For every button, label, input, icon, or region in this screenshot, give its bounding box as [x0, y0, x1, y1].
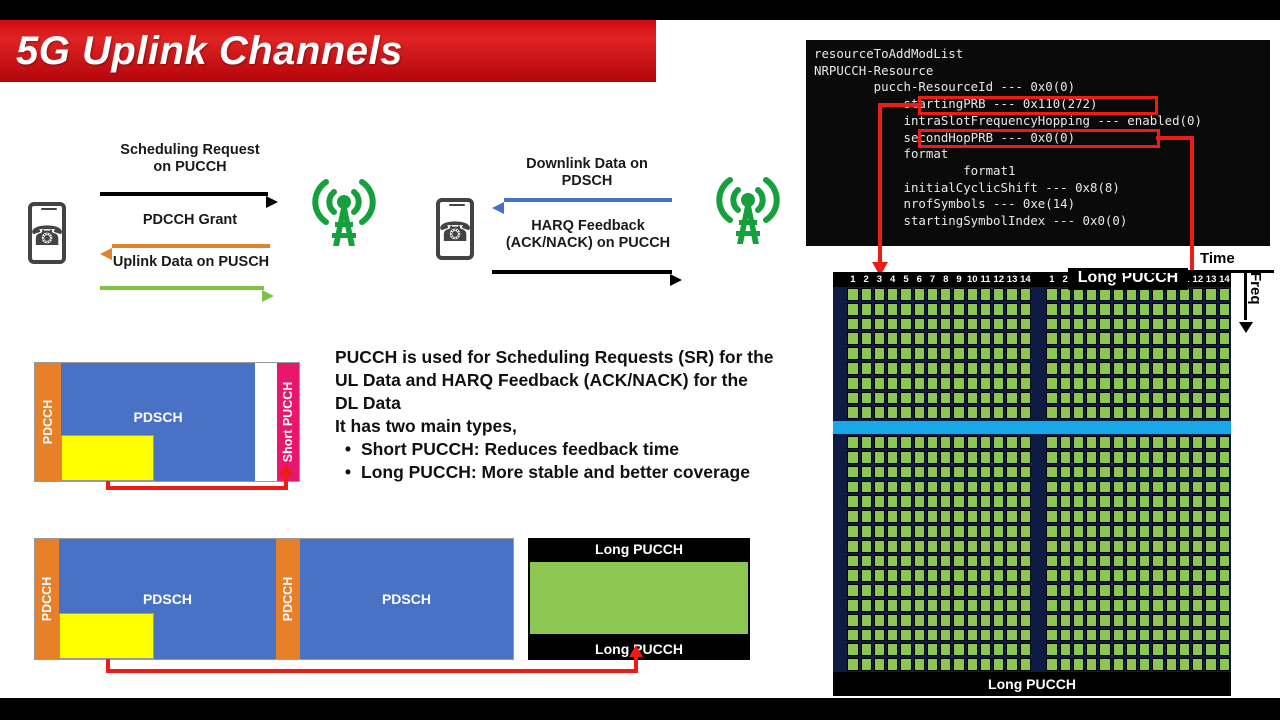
resource-element	[1006, 332, 1017, 345]
resource-element	[1139, 540, 1150, 553]
resource-element	[887, 318, 898, 331]
resource-element	[887, 614, 898, 627]
segment-label: PDSCH	[61, 409, 256, 425]
resource-element	[940, 525, 951, 538]
resource-element	[1020, 643, 1031, 656]
resource-element	[861, 406, 872, 419]
resource-element	[1179, 466, 1190, 479]
resource-element	[1073, 318, 1084, 331]
resource-element	[900, 451, 911, 464]
resource-element	[914, 392, 925, 405]
resource-element	[1205, 525, 1216, 538]
resource-element	[1099, 392, 1110, 405]
resource-element	[847, 392, 858, 405]
resource-element	[887, 362, 898, 375]
resource-element	[1073, 525, 1084, 538]
resource-element	[993, 332, 1004, 345]
resource-element	[861, 614, 872, 627]
resource-element	[1086, 451, 1097, 464]
resource-element	[1046, 288, 1057, 301]
resource-element	[900, 347, 911, 360]
resource-element	[887, 658, 898, 671]
resource-element	[927, 555, 938, 568]
resource-element	[1060, 481, 1071, 494]
resource-element	[1139, 436, 1150, 449]
resource-element	[914, 510, 925, 523]
resource-element	[1006, 362, 1017, 375]
resource-element	[1073, 377, 1084, 390]
resource-element	[1219, 569, 1230, 582]
resource-element	[900, 495, 911, 508]
resource-element	[887, 332, 898, 345]
terminal-line: resourceToAddModList	[814, 46, 1270, 63]
resource-element	[980, 495, 991, 508]
resource-element	[1126, 555, 1137, 568]
resource-element	[1166, 540, 1177, 553]
resource-element	[967, 569, 978, 582]
resource-element	[900, 288, 911, 301]
resource-element	[993, 362, 1004, 375]
resource-element	[993, 569, 1004, 582]
resource-element	[1099, 555, 1110, 568]
resource-element	[940, 466, 951, 479]
resource-element	[1020, 510, 1031, 523]
resource-element	[967, 510, 978, 523]
resource-element	[1046, 495, 1057, 508]
resource-element	[847, 318, 858, 331]
resource-element	[1219, 436, 1230, 449]
resource-element	[940, 362, 951, 375]
allocation-box-yellow	[59, 613, 154, 659]
resource-element	[1099, 362, 1110, 375]
resource-element	[1219, 599, 1230, 612]
resource-element	[980, 451, 991, 464]
resource-element	[914, 332, 925, 345]
resource-element	[1139, 495, 1150, 508]
resource-element	[861, 451, 872, 464]
resource-element	[887, 347, 898, 360]
resource-element	[874, 451, 885, 464]
resource-element	[993, 629, 1004, 642]
resource-element	[967, 288, 978, 301]
resource-element	[993, 406, 1004, 419]
resource-element	[1020, 288, 1031, 301]
resource-element	[1219, 332, 1230, 345]
resource-element	[861, 540, 872, 553]
resource-element	[861, 318, 872, 331]
resource-element	[940, 451, 951, 464]
resource-element	[927, 658, 938, 671]
bullet-dot-icon: •	[335, 438, 361, 461]
resource-element	[887, 599, 898, 612]
resource-element	[847, 658, 858, 671]
resource-element	[927, 303, 938, 316]
symbol-number: 6	[913, 272, 926, 287]
resource-element	[927, 436, 938, 449]
resource-element	[953, 599, 964, 612]
resource-element	[887, 451, 898, 464]
resource-element	[1219, 643, 1230, 656]
resource-element	[953, 569, 964, 582]
resource-element	[980, 525, 991, 538]
resource-element	[1126, 658, 1137, 671]
resource-element	[980, 555, 991, 568]
freq-axis-label: Freq	[1247, 272, 1264, 305]
resource-element	[1166, 392, 1177, 405]
resource-element	[940, 288, 951, 301]
resource-element	[1192, 540, 1203, 553]
resource-element	[887, 436, 898, 449]
resource-element	[953, 392, 964, 405]
resource-element	[874, 614, 885, 627]
resource-element	[847, 377, 858, 390]
resource-element	[1073, 481, 1084, 494]
resource-element	[1020, 303, 1031, 316]
resource-element	[927, 451, 938, 464]
handset-glyph: ☎	[32, 213, 62, 259]
resource-element	[847, 466, 858, 479]
arrow-head-right	[262, 290, 274, 302]
resource-element	[940, 643, 951, 656]
resource-element	[887, 288, 898, 301]
resource-element	[1073, 643, 1084, 656]
resource-element	[1060, 392, 1071, 405]
resource-element	[993, 377, 1004, 390]
resource-element	[874, 406, 885, 419]
resource-element	[1073, 658, 1084, 671]
resource-element	[1192, 510, 1203, 523]
resource-element	[1020, 555, 1031, 568]
resource-element	[1046, 436, 1057, 449]
resource-element	[953, 332, 964, 345]
segment-pdcch: PDCCH	[35, 539, 59, 659]
arrow-shaft-right-green	[100, 286, 264, 290]
resource-element	[1086, 436, 1097, 449]
resource-element	[980, 362, 991, 375]
resource-element	[1192, 584, 1203, 597]
segment-label: PDCCH	[41, 400, 55, 444]
resource-element	[1086, 599, 1097, 612]
resource-element	[1166, 525, 1177, 538]
resource-element	[874, 540, 885, 553]
resource-element	[993, 525, 1004, 538]
resource-element	[1219, 495, 1230, 508]
bullet-short-pucch: • Short PUCCH: Reduces feedback time	[335, 438, 805, 461]
resource-element	[1099, 451, 1110, 464]
resource-element	[1179, 332, 1190, 345]
resource-element	[1073, 569, 1084, 582]
resource-element	[914, 584, 925, 597]
resource-element	[861, 599, 872, 612]
arrow-shaft-left-blue	[504, 198, 672, 202]
resource-element	[940, 540, 951, 553]
segment-label: Short PUCCH	[281, 382, 295, 463]
resource-element	[1139, 377, 1150, 390]
resource-element	[914, 555, 925, 568]
resource-element	[953, 584, 964, 597]
resource-element	[1166, 555, 1177, 568]
resource-element	[847, 510, 858, 523]
resource-element	[874, 332, 885, 345]
resource-element	[1086, 406, 1097, 419]
resource-element	[1219, 303, 1230, 316]
resource-element	[940, 436, 951, 449]
resource-element	[1192, 629, 1203, 642]
resource-element	[980, 599, 991, 612]
resource-element	[980, 569, 991, 582]
symbol-number: 7	[926, 272, 939, 287]
resource-element	[1152, 525, 1163, 538]
resource-element	[1060, 525, 1071, 538]
resource-element	[967, 584, 978, 597]
resource-element	[900, 392, 911, 405]
resource-element	[1113, 599, 1124, 612]
segment-label: PDCCH	[40, 577, 54, 621]
resource-element	[861, 481, 872, 494]
resource-element	[927, 599, 938, 612]
leader-line-starting-prb-vertical	[878, 103, 882, 265]
resource-element	[1219, 362, 1230, 375]
resource-element	[861, 347, 872, 360]
resource-element	[993, 599, 1004, 612]
resource-element	[1139, 347, 1150, 360]
resource-element	[874, 466, 885, 479]
resource-element	[900, 599, 911, 612]
resource-element	[1139, 643, 1150, 656]
resource-element	[914, 495, 925, 508]
resource-element	[1020, 466, 1031, 479]
resource-element	[1126, 495, 1137, 508]
resource-element	[1020, 658, 1031, 671]
symbol-number: 4	[886, 272, 899, 287]
highlight-box-starting-prb	[918, 96, 1158, 115]
resource-element	[953, 614, 964, 627]
resource-element	[1192, 436, 1203, 449]
terminal-line: initialCyclicShift --- 0x8(8)	[814, 180, 1270, 197]
segment-pdcch: PDCCH	[276, 539, 300, 659]
resource-element	[861, 392, 872, 405]
resource-element	[1046, 643, 1057, 656]
resource-element	[1099, 629, 1110, 642]
resource-element	[1166, 481, 1177, 494]
resource-element	[861, 495, 872, 508]
resource-element	[1139, 569, 1150, 582]
resource-element	[1113, 347, 1124, 360]
resource-element	[1020, 599, 1031, 612]
resource-element	[900, 406, 911, 419]
resource-element	[1205, 392, 1216, 405]
resource-element	[1139, 614, 1150, 627]
resource-element	[1006, 303, 1017, 316]
resource-element	[1046, 481, 1057, 494]
segment-label: PDSCH	[59, 591, 276, 607]
resource-element	[940, 584, 951, 597]
flow-diagram-left: ☎ Scheduling Requ	[0, 130, 420, 310]
resource-element	[1073, 629, 1084, 642]
resource-element	[967, 303, 978, 316]
resource-element	[1073, 510, 1084, 523]
resource-element	[1166, 332, 1177, 345]
resource-element	[953, 466, 964, 479]
resource-element	[967, 436, 978, 449]
resource-element	[1073, 392, 1084, 405]
resource-element	[887, 481, 898, 494]
resource-element	[953, 525, 964, 538]
resource-element	[1099, 406, 1110, 419]
bullet-label: Long PUCCH: More stable and better cover…	[361, 461, 750, 484]
resource-element	[1006, 481, 1017, 494]
resource-element	[1060, 332, 1071, 345]
resource-element	[1205, 584, 1216, 597]
resource-element	[1060, 466, 1071, 479]
resource-element	[1099, 436, 1110, 449]
terminal-line: nrofSymbols --- 0xe(14)	[814, 196, 1270, 213]
resource-element	[967, 629, 978, 642]
resource-element	[900, 318, 911, 331]
resource-element	[1166, 495, 1177, 508]
resource-element	[1020, 451, 1031, 464]
resource-element	[1073, 540, 1084, 553]
resource-element	[1073, 332, 1084, 345]
resource-element	[1192, 392, 1203, 405]
resource-element	[1152, 629, 1163, 642]
resource-element	[1179, 318, 1190, 331]
resource-element	[1020, 318, 1031, 331]
resource-element	[953, 555, 964, 568]
resource-element	[1152, 451, 1163, 464]
resource-element	[1113, 362, 1124, 375]
phone-icon: ☎	[28, 202, 66, 264]
resource-element	[1099, 377, 1110, 390]
resource-element	[1192, 332, 1203, 345]
resource-element	[900, 569, 911, 582]
resource-element	[1152, 643, 1163, 656]
resource-element	[1139, 584, 1150, 597]
resource-element	[1006, 318, 1017, 331]
resource-element	[1219, 658, 1230, 671]
resource-element	[1166, 510, 1177, 523]
resource-element	[927, 481, 938, 494]
resource-element	[1046, 629, 1057, 642]
resource-element	[1020, 347, 1031, 360]
resource-element	[1166, 599, 1177, 612]
resource-element	[1060, 643, 1071, 656]
resource-element	[953, 629, 964, 642]
symbol-number: 5	[899, 272, 912, 287]
arrow-shaft-right-black	[100, 192, 268, 196]
resource-element	[1179, 303, 1190, 316]
resource-element	[940, 569, 951, 582]
resource-element	[1046, 569, 1057, 582]
resource-element	[1086, 318, 1097, 331]
resource-element	[847, 643, 858, 656]
resource-element	[1099, 599, 1110, 612]
resource-element	[1046, 347, 1057, 360]
resource-element	[940, 481, 951, 494]
time-axis-label: Time	[1200, 250, 1235, 267]
symbol-number: 1	[1045, 272, 1058, 287]
resource-element	[1192, 318, 1203, 331]
resource-element	[1139, 525, 1150, 538]
resource-element	[887, 555, 898, 568]
description-text: PUCCH is used for Scheduling Requests (S…	[335, 346, 805, 484]
description-line-2: UL Data and HARQ Feedback (ACK/NACK) for…	[335, 369, 805, 392]
resource-element	[1126, 510, 1137, 523]
resource-element	[927, 392, 938, 405]
resource-element	[1152, 540, 1163, 553]
resource-element	[1020, 377, 1031, 390]
resource-element	[1099, 303, 1110, 316]
resource-element	[1219, 629, 1230, 642]
resource-element	[1086, 377, 1097, 390]
resource-element	[847, 614, 858, 627]
resource-element	[940, 510, 951, 523]
resource-element	[1179, 629, 1190, 642]
resource-element	[1046, 510, 1057, 523]
resource-element	[861, 332, 872, 345]
flow-diagram-right: ☎ Downlink Data on	[420, 130, 810, 310]
resource-element	[1205, 377, 1216, 390]
arrow-shaft-left-orange	[112, 244, 270, 248]
resource-element	[1113, 525, 1124, 538]
resource-element	[1006, 436, 1017, 449]
resource-element	[861, 584, 872, 597]
resource-element	[1139, 555, 1150, 568]
bullet-label: Short PUCCH: Reduces feedback time	[361, 438, 679, 461]
resource-element	[1060, 377, 1071, 390]
resource-element	[953, 658, 964, 671]
highlight-box-second-hop-prb	[918, 129, 1160, 148]
resource-element	[940, 555, 951, 568]
resource-element	[993, 392, 1004, 405]
resource-element	[1179, 392, 1190, 405]
resource-element	[1046, 599, 1057, 612]
resource-element	[1152, 377, 1163, 390]
resource-element	[1219, 510, 1230, 523]
resource-element	[1020, 332, 1031, 345]
resource-element	[1152, 495, 1163, 508]
resource-element	[953, 347, 964, 360]
resource-element	[1113, 614, 1124, 627]
resource-element	[1113, 377, 1124, 390]
resource-element	[1060, 318, 1071, 331]
resource-element	[1139, 599, 1150, 612]
resource-element	[967, 406, 978, 419]
symbol-number: 14	[1019, 272, 1032, 287]
description-line-4: It has two main types,	[335, 415, 805, 438]
resource-element	[1139, 406, 1150, 419]
resource-element	[1126, 377, 1137, 390]
resource-element	[1113, 481, 1124, 494]
resource-element	[1192, 362, 1203, 375]
resource-element	[1046, 377, 1057, 390]
resource-element	[1166, 584, 1177, 597]
resource-element	[1152, 436, 1163, 449]
resource-element	[967, 318, 978, 331]
segment-label: PDCCH	[281, 577, 295, 621]
resource-element	[861, 288, 872, 301]
resource-element	[1126, 466, 1137, 479]
resource-element	[1179, 362, 1190, 375]
resource-element	[980, 392, 991, 405]
resource-element	[914, 303, 925, 316]
resource-element	[847, 451, 858, 464]
resource-element	[1060, 406, 1071, 419]
resource-element	[993, 288, 1004, 301]
resource-element	[887, 643, 898, 656]
resource-element	[1006, 525, 1017, 538]
resource-element	[1205, 362, 1216, 375]
